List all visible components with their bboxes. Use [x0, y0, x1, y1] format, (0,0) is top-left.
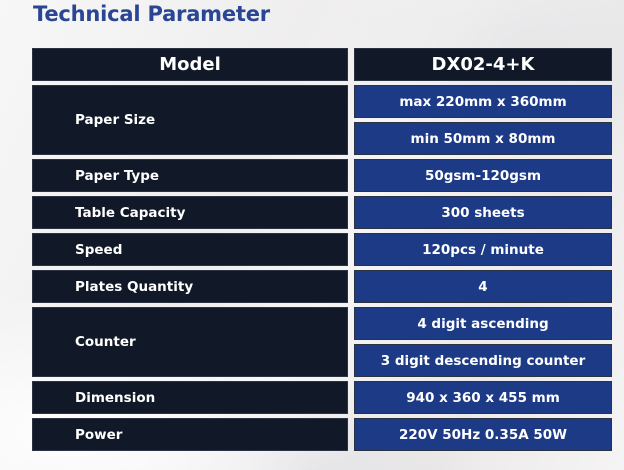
- row-label-counter: Counter: [32, 307, 348, 377]
- table-row: Power 220V 50Hz 0.35A 50W: [32, 418, 612, 451]
- table-header-label: Model: [32, 48, 348, 81]
- row-value-speed: 120pcs / minute: [354, 233, 612, 266]
- row-value-counter-ascending: 4 digit ascending: [354, 307, 612, 340]
- table-row: Table Capacity 300 sheets: [32, 196, 612, 229]
- row-value-group-paper-type: 50gsm-120gsm: [354, 159, 612, 192]
- row-value-group-table-capacity: 300 sheets: [354, 196, 612, 229]
- row-value-dimension: 940 x 360 x 455 mm: [354, 381, 612, 414]
- row-value-paper-size-min: min 50mm x 80mm: [354, 122, 612, 155]
- row-value-group-paper-size: max 220mm x 360mm min 50mm x 80mm: [354, 85, 612, 155]
- row-label-table-capacity: Table Capacity: [32, 196, 348, 229]
- row-value-paper-type: 50gsm-120gsm: [354, 159, 612, 192]
- table-row: Paper Size max 220mm x 360mm min 50mm x …: [32, 85, 612, 155]
- row-label-plates-quantity: Plates Quantity: [32, 270, 348, 303]
- row-value-group-counter: 4 digit ascending 3 digit descending cou…: [354, 307, 612, 377]
- row-value-power: 220V 50Hz 0.35A 50W: [354, 418, 612, 451]
- row-label-paper-type: Paper Type: [32, 159, 348, 192]
- row-label-speed: Speed: [32, 233, 348, 266]
- table-row: Speed 120pcs / minute: [32, 233, 612, 266]
- row-label-dimension: Dimension: [32, 381, 348, 414]
- table-row: Paper Type 50gsm-120gsm: [32, 159, 612, 192]
- table-header-value: DX02-4+K: [354, 48, 612, 81]
- row-value-table-capacity: 300 sheets: [354, 196, 612, 229]
- row-value-group-plates-quantity: 4: [354, 270, 612, 303]
- technical-parameter-table: Model DX02-4+K Paper Size max 220mm x 36…: [32, 48, 612, 451]
- row-value-plates-quantity: 4: [354, 270, 612, 303]
- row-value-group-power: 220V 50Hz 0.35A 50W: [354, 418, 612, 451]
- row-value-group-speed: 120pcs / minute: [354, 233, 612, 266]
- row-label-paper-size: Paper Size: [32, 85, 348, 155]
- row-value-paper-size-max: max 220mm x 360mm: [354, 85, 612, 118]
- table-header-row: Model DX02-4+K: [32, 48, 612, 81]
- table-header-value-group: DX02-4+K: [354, 48, 612, 81]
- row-value-counter-descending: 3 digit descending counter: [354, 344, 612, 377]
- row-label-power: Power: [32, 418, 348, 451]
- table-row: Counter 4 digit ascending 3 digit descen…: [32, 307, 612, 377]
- row-value-group-dimension: 940 x 360 x 455 mm: [354, 381, 612, 414]
- table-row: Plates Quantity 4: [32, 270, 612, 303]
- table-row: Dimension 940 x 360 x 455 mm: [32, 381, 612, 414]
- page-title: Technical Parameter: [33, 2, 270, 26]
